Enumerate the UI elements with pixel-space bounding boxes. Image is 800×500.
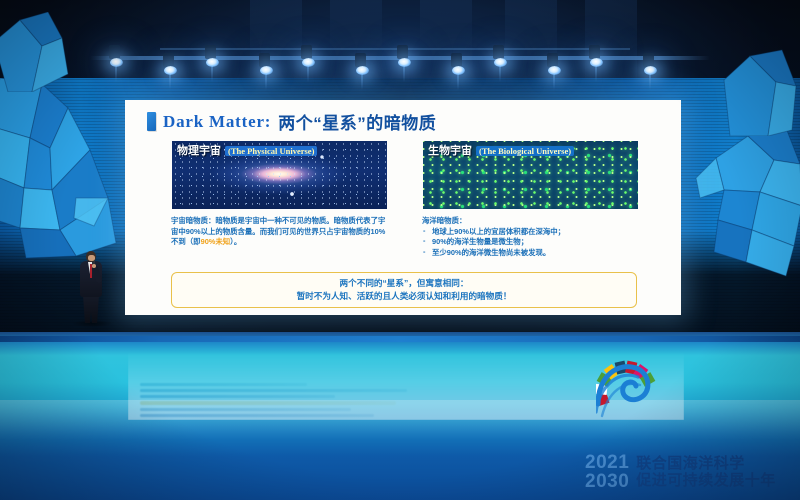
right-caption-cn: 生物宇宙 [428,142,472,158]
left-body-highlight: 90%未知 [201,237,231,246]
slide-title: Dark Matter: 两个“星系”的暗物质 [147,109,436,134]
right-bullet-item: 至少90%的海洋微生物尚未被发现。 [422,248,637,259]
stage-spotlight-icon [164,66,177,75]
conclusion-line-1: 两个不同的“星系”，但寓意相同： [340,277,469,290]
stage-spotlight-icon [548,66,561,75]
presenter-hand [92,264,96,268]
light-beam [265,74,267,90]
right-bullet-item: 90%的海洋生物量是微生物； [422,237,637,248]
slide-two-column-layout: 物理宇宙 (The Physical Universe) 宇宙暗物质：暗物质是宇… [171,140,637,258]
right-body-text: 海洋暗物质： 地球上90%以上的宜居体积都在深海中；90%的海洋生物量是微生物；… [422,216,637,258]
lighting-truss-upper [160,48,630,50]
right-caption-en: (The Biological Universe) [476,146,574,156]
spotlight-housing [301,45,312,59]
spotlight-housing [451,53,462,67]
left-image-caption: 物理宇宙 (The Physical Universe) [172,141,322,160]
left-column: 物理宇宙 (The Physical Universe) 宇宙暗物质：暗物质是宇… [171,140,386,258]
light-beam [457,74,459,90]
right-image-caption: 生物宇宙 (The Biological Universe) [423,141,579,160]
stage-spotlight-icon [590,58,603,67]
physical-universe-image: 物理宇宙 (The Physical Universe) [171,140,388,210]
light-beam [169,74,171,90]
light-beam [595,66,597,82]
un-ocean-decade-logo [596,358,668,420]
right-bullet-list: 地球上90%以上的宜居体积都在深海中；90%的海洋生物量是微生物；至少90%的海… [422,227,637,259]
spotlight-housing [259,53,270,67]
wordmark-line-1: 联合国海洋科学 [636,455,776,472]
right-column: 生物宇宙 (The Biological Universe) 海洋暗物质： 地球… [422,140,637,258]
stage-spotlight-icon [452,66,465,75]
ice-crystal-decoration-right [690,120,800,280]
floor-specular-glare [0,400,800,440]
light-beam [553,74,555,90]
ice-crystal-decoration-upper-left [0,12,74,92]
light-beam [307,66,309,82]
left-body-tail: ）。 [230,237,241,246]
stage-spotlight-icon [260,66,273,75]
stage-spotlight-icon [644,66,657,75]
left-caption-cn: 物理宇宙 [177,142,221,158]
light-beam [211,66,213,82]
presentation-slide: Dark Matter: 两个“星系”的暗物质 物理宇宙 (The Physic… [125,100,681,315]
ice-crystal-decoration-left [0,78,120,263]
stage-spotlight-icon [398,58,411,67]
light-beam [403,66,405,82]
presenter-face [88,255,95,261]
slide-title-cn: 两个“星系”的暗物质 [278,109,436,134]
spotlight-housing [163,53,174,67]
stage-spotlight-icon [110,58,123,67]
ocean-decade-wordmark: 2021 2030 联合国海洋科学 促进可持续发展十年 [585,448,800,496]
conclusion-box: 两个不同的“星系”，但寓意相同： 暂时不为人知、活跃的且人类必须认知和利用的暗物… [171,272,637,308]
presenter-legs [83,295,99,323]
year-start: 2021 [585,453,629,472]
presenter [78,251,104,323]
left-caption-en: (The Physical Universe) [225,146,317,156]
spotlight-housing [205,45,216,59]
left-body-text: 宇宙暗物质：暗物质是宇宙中一种不可见的物质。暗物质代表了宇宙中90%以上的物质含… [171,216,386,248]
spotlight-housing [493,45,504,59]
blue-rectangle-bullet-icon [147,112,156,131]
wordmark-years: 2021 2030 [585,453,629,491]
light-beam [649,74,651,90]
left-body-lead: 宇宙暗物质 [171,216,208,225]
stage-spotlight-icon [206,58,219,67]
spotlight-housing [589,45,600,59]
conclusion-line-2: 暂时不为人知、活跃的且人类必须认知和利用的暗物质！ [297,290,512,303]
stage-floor-edge-strip [0,336,800,342]
ice-crystal-decoration-upper-right [720,46,800,136]
spotlight-housing [643,53,654,67]
biological-universe-image: 生物宇宙 (The Biological Universe) [422,140,639,210]
spotlight-housing [109,45,120,59]
light-beam [499,66,501,82]
year-end: 2030 [585,472,629,491]
wordmark-line-2: 促进可持续发展十年 [636,472,776,489]
stage-spotlight-icon [356,66,369,75]
wordmark-chinese: 联合国海洋科学 促进可持续发展十年 [636,455,776,490]
screenshot-root: Dark Matter: 两个“星系”的暗物质 物理宇宙 (The Physic… [0,0,800,500]
spotlight-housing [355,53,366,67]
stage-spotlight-icon [494,58,507,67]
right-bullet-item: 地球上90%以上的宜居体积都在深海中； [422,227,637,238]
spotlight-housing [547,53,558,67]
spotlight-housing [397,45,408,59]
light-beam [361,74,363,90]
right-body-lead: 海洋暗物质： [422,216,637,227]
slide-title-en: Dark Matter: [163,112,271,132]
stage-spotlight-icon [302,58,315,67]
